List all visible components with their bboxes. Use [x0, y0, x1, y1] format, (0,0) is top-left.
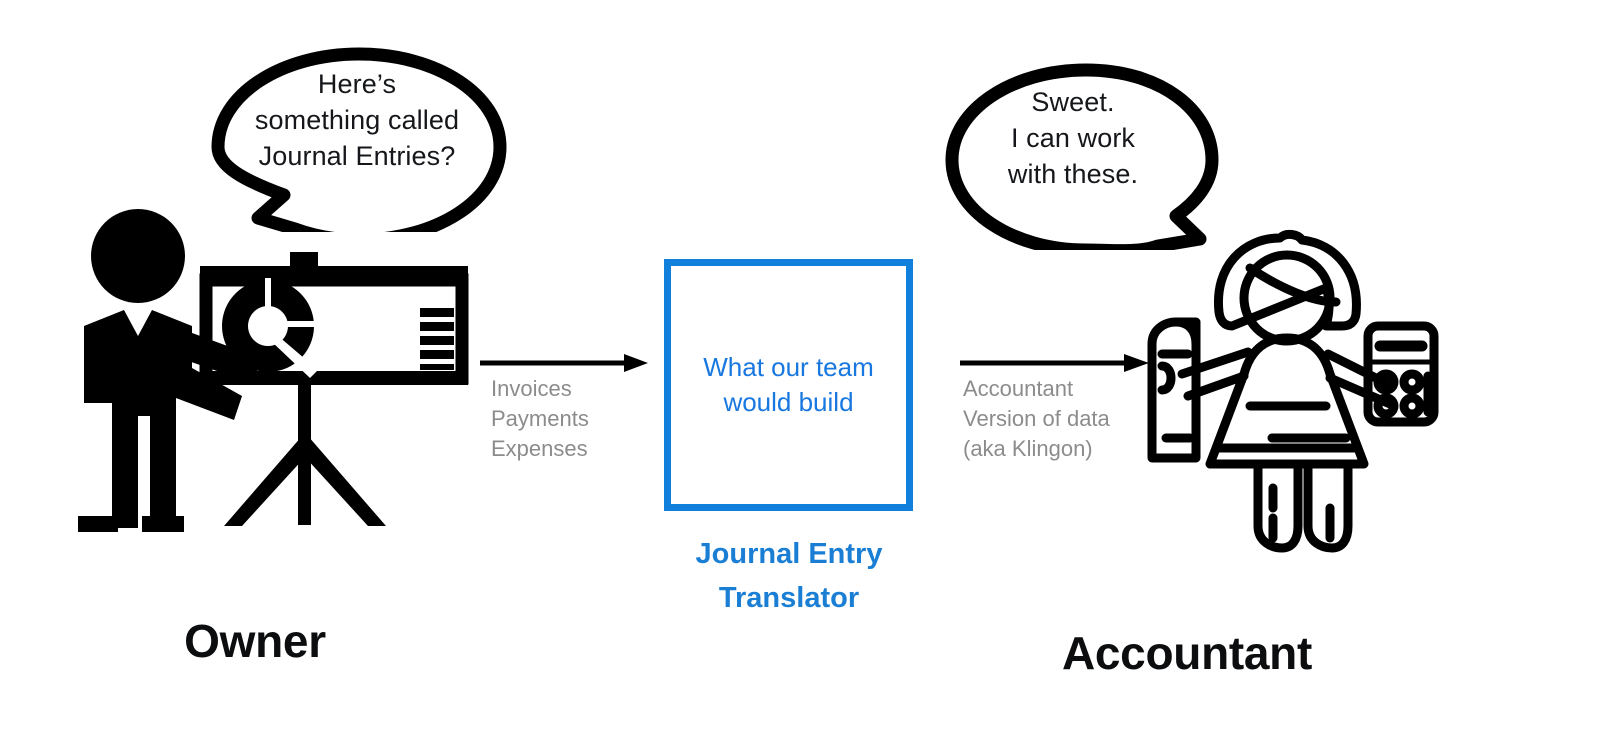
- owner-presenter-icon: [72, 208, 472, 538]
- arrow-right-icon: [478, 350, 653, 376]
- owner-role-label: Owner: [95, 614, 415, 668]
- accountant-speech-text: Sweet. I can work with these.: [962, 84, 1184, 192]
- left-arrow-caption: Invoices Payments Expenses: [491, 374, 589, 464]
- translator-box-text: What our team would build: [703, 350, 874, 420]
- accountant-person-icon: [1140, 226, 1440, 566]
- arrow-right-icon: [958, 350, 1154, 376]
- accountant-role-label: Accountant: [1022, 626, 1352, 680]
- owner-speech-text: Here’s something called Journal Entries?: [226, 66, 488, 174]
- diagram-canvas: Here’s something called Journal Entries?…: [0, 0, 1600, 753]
- right-arrow-caption: Accountant Version of data (aka Klingon): [963, 374, 1110, 464]
- journal-entry-translator-box[interactable]: What our team would build: [664, 259, 913, 511]
- translator-label: Journal Entry Translator: [624, 532, 954, 620]
